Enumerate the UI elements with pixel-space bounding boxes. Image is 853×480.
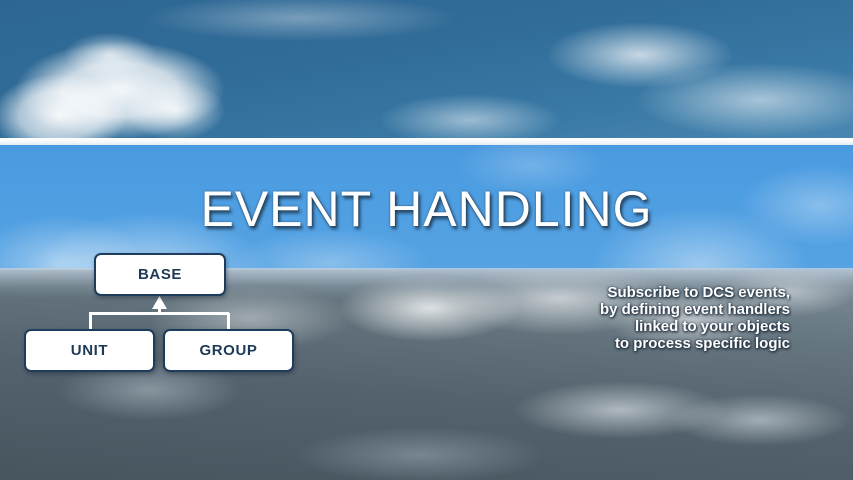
description-line-2: by defining event handlers <box>600 301 790 318</box>
class-node-group-label: GROUP <box>199 342 257 359</box>
description-line-3: linked to your objects <box>600 318 790 335</box>
presentation-slide: EVENT HANDLING BASE UNIT GROUP Subscribe… <box>0 0 853 480</box>
class-node-base[interactable]: BASE <box>94 253 226 296</box>
class-node-base-label: BASE <box>138 266 182 283</box>
class-node-unit-label: UNIT <box>71 342 108 359</box>
inheritance-connector <box>0 0 853 480</box>
class-node-group[interactable]: GROUP <box>163 329 294 372</box>
description-line-1: Subscribe to DCS events, <box>600 284 790 301</box>
class-diagram: BASE UNIT GROUP <box>0 0 853 480</box>
description-line-4: to process specific logic <box>600 335 790 352</box>
class-node-unit[interactable]: UNIT <box>24 329 155 372</box>
description-text: Subscribe to DCS events, by defining eve… <box>600 284 790 352</box>
